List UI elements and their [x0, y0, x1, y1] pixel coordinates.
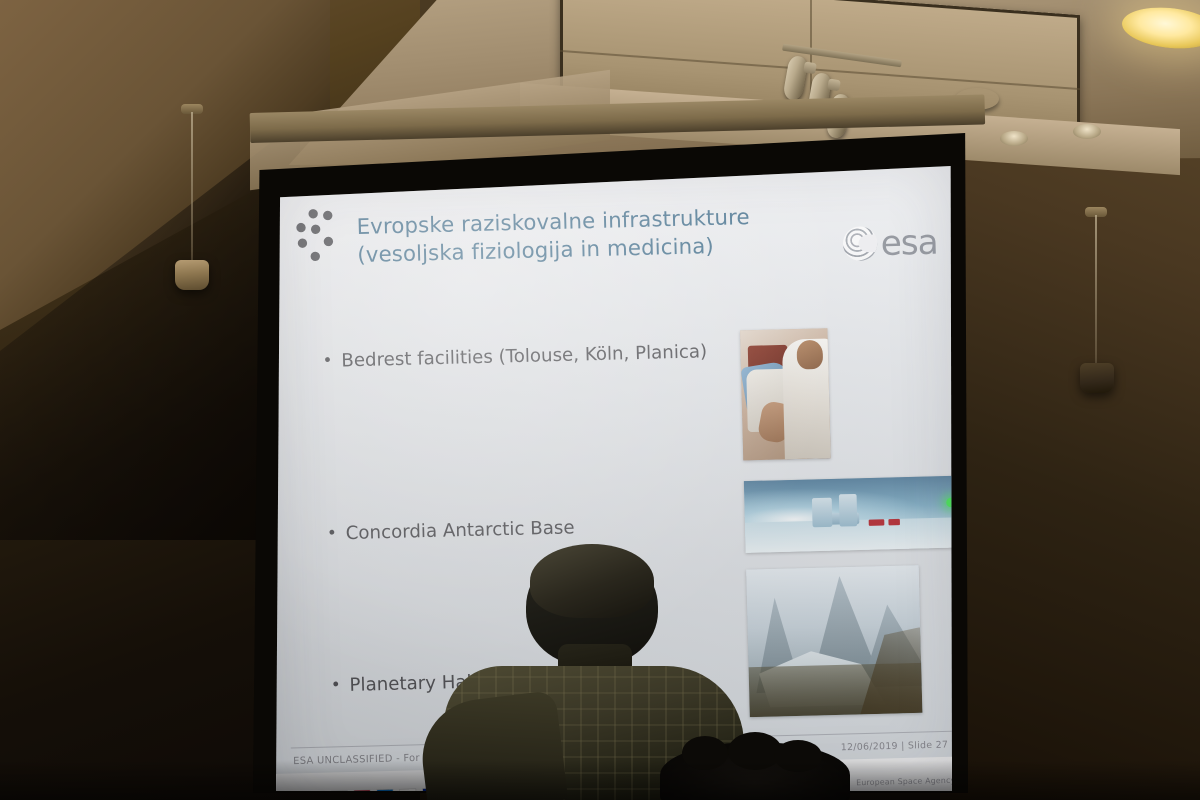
bullet-list: Bedrest facilities (Tolouse, Köln, Plani… — [341, 340, 779, 419]
downlight — [1000, 131, 1028, 146]
concordia-base-photo — [744, 475, 952, 552]
flag-finland — [400, 789, 416, 791]
flag-denmark — [354, 790, 370, 791]
slide-number: 27 — [936, 740, 949, 751]
flag-estonia — [377, 790, 393, 791]
seven-dot-logo — [296, 208, 341, 263]
presenter-shoulder — [416, 690, 568, 800]
list-item: Bedrest facilities (Tolouse, Köln, Plani… — [341, 340, 778, 374]
page-title: Evropske raziskovalne infrastrukture (ve… — [356, 202, 804, 270]
pendant-cord — [1095, 215, 1097, 365]
presenter-hair — [530, 544, 654, 618]
pendant-cord — [191, 112, 193, 262]
meta-separator: | — [901, 741, 905, 751]
esa-globe-icon — [843, 226, 878, 261]
hair-curl — [774, 740, 822, 772]
slide-label: Slide — [908, 741, 933, 752]
agency-name: European Space Agency — [856, 775, 952, 787]
green-laser-dot — [946, 497, 952, 507]
audience-head-silhouette — [640, 742, 870, 800]
planica-mountains-photo — [746, 565, 922, 717]
bedrest-photo — [740, 328, 831, 460]
conference-room-scene: Evropske raziskovalne infrastrukture (ve… — [0, 0, 1200, 800]
hair-curl — [682, 736, 728, 770]
esa-logo: esa — [843, 225, 938, 262]
esa-wordmark: esa — [880, 225, 938, 261]
pendant-lamp — [1080, 363, 1114, 393]
list-item: Concordia Antarctic Base — [345, 512, 782, 546]
downlight — [1073, 124, 1101, 139]
pendant-lamp — [175, 260, 209, 290]
